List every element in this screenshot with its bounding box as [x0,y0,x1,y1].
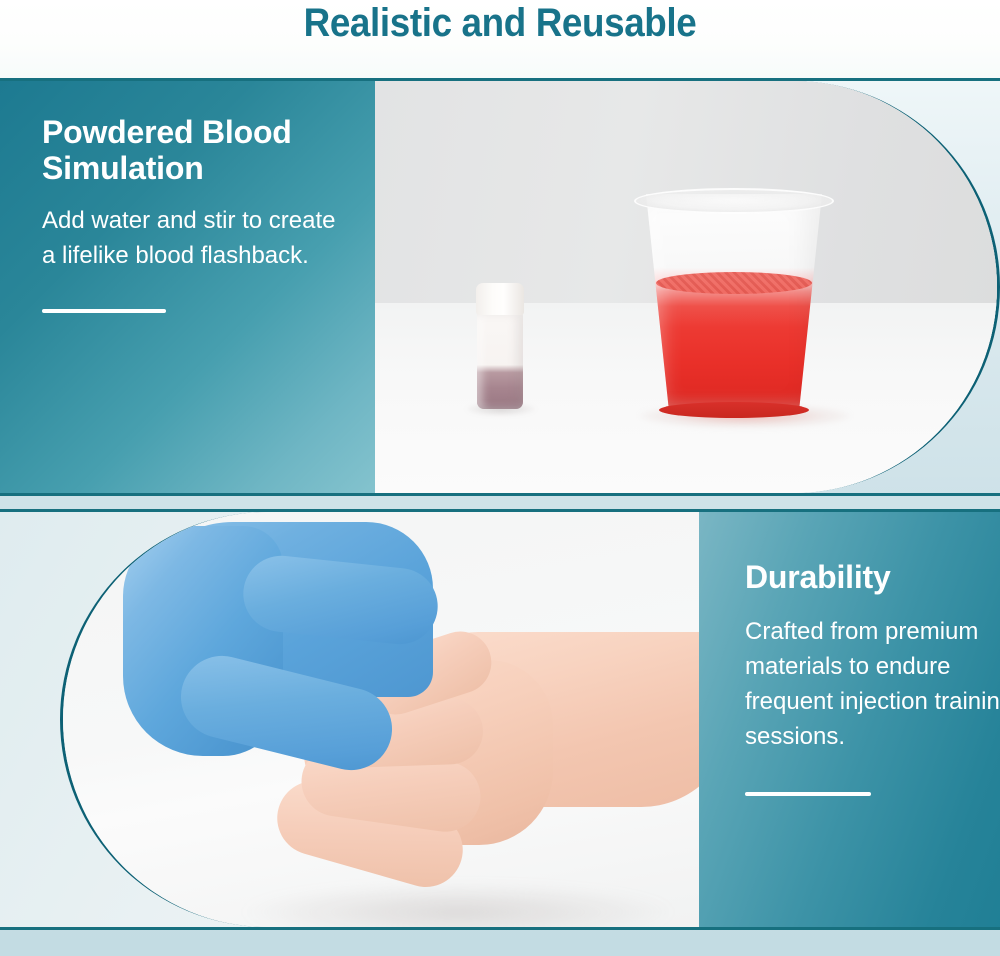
text-panel-durability: Durability Crafted from premium material… [699,512,1000,927]
vial-tube [477,313,523,409]
accent-rule [42,309,166,313]
cup-rim [634,188,834,214]
section-heading-durability: Durability [745,560,1000,596]
vial-cap [476,283,524,315]
bottom-rounded-card: Durability Crafted from premium material… [60,512,1000,927]
feature-section-powdered-blood-simulation: Powdered Blood Simulation Add water and … [0,78,1000,496]
section-body-powdered-blood-simulation: Add water and stir to create a lifelike … [42,203,342,273]
cup-body [646,194,822,410]
text-panel-powdered-blood-simulation: Powdered Blood Simulation Add water and … [0,81,375,493]
powder-vial-icon [474,283,526,411]
section-heading-powdered-blood-simulation: Powdered Blood Simulation [42,115,342,187]
top-copy-block: Powdered Blood Simulation Add water and … [42,115,342,313]
accent-rule [745,792,871,796]
feature-section-durability: Durability Crafted from premium material… [0,509,1000,930]
top-rounded-card: Powdered Blood Simulation Add water and … [0,81,1000,493]
page-title: Realistic and Reusable [40,1,960,46]
plastic-cup-icon [634,188,834,420]
bottom-copy-block: Durability Crafted from premium material… [745,560,1000,796]
cup-base [659,402,809,418]
section-body-durability: Crafted from premium materials to endure… [745,614,1000,754]
blue-nitrile-glove-icon [123,522,453,842]
infographic-page: Realistic and Reusable [0,0,1000,956]
photo-blood-simulation [375,81,1000,493]
blood-liquid-surface [656,272,812,294]
hand-shadow [243,884,673,927]
headline-bar: Realistic and Reusable [0,0,1000,78]
photo-durability [63,512,703,927]
